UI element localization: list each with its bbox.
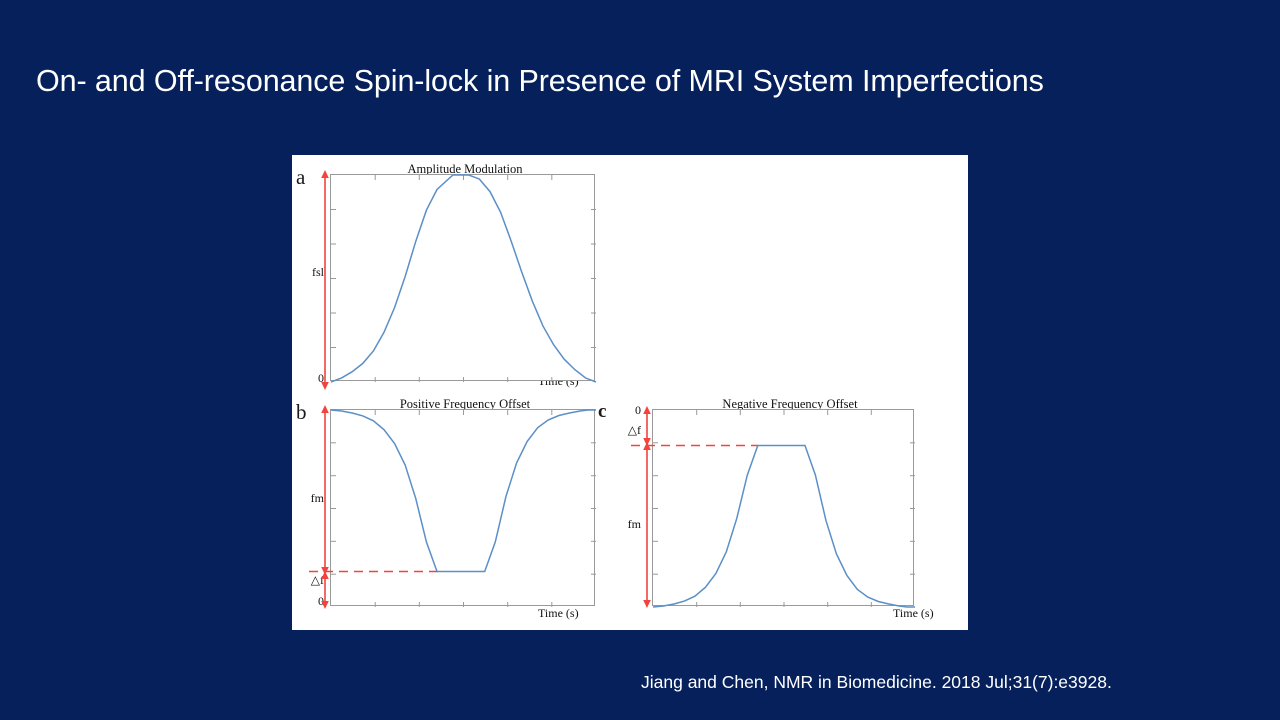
panel-b-ticks	[331, 410, 596, 607]
panel-c-ytick-zero: 0	[615, 403, 641, 418]
panel-c-ytick-fm: fm	[613, 517, 641, 532]
panel-b-deltaf-arrow	[318, 571, 332, 611]
panel-b-plot-svg	[331, 410, 596, 607]
panel-c-ytick-deltaf: △f	[609, 423, 641, 438]
panel-letter-c: c	[598, 402, 606, 421]
citation-text: Jiang and Chen, NMR in Biomedicine. 2018…	[641, 672, 1112, 693]
panel-a-ticks	[331, 175, 596, 382]
panel-letter-b: b	[296, 402, 307, 423]
panel-b-plot-area	[330, 409, 595, 606]
chart-panel-b: b Positive Frequency Offset fm △f 0 Time…	[292, 395, 612, 630]
panel-c-xlabel: Time (s)	[893, 606, 934, 621]
chart-panel-c: c Negative Frequency Offset 0 △f fm Time…	[597, 395, 968, 630]
panel-c-curve	[653, 446, 915, 608]
panel-a-curve	[331, 175, 596, 382]
panel-b-xlabel: Time (s)	[538, 606, 579, 621]
panel-b-fm-arrow	[318, 403, 332, 577]
panel-a-plot-area	[330, 174, 595, 381]
panel-a-plot-svg	[331, 175, 596, 382]
chart-panel-a: a Amplitude Modulation fsl 0 Time (s)	[292, 155, 612, 395]
slide-canvas: On- and Off-resonance Spin-lock in Prese…	[0, 0, 1280, 720]
panel-letter-a: a	[296, 167, 305, 188]
figure-image: a Amplitude Modulation fsl 0 Time (s)	[292, 155, 968, 630]
page-title: On- and Off-resonance Spin-lock in Prese…	[36, 64, 1216, 99]
panel-c-plot-area	[652, 409, 914, 606]
panel-a-fsl-arrow	[318, 168, 332, 390]
panel-c-fm-arrow	[640, 442, 654, 610]
panel-c-plot-svg	[653, 410, 915, 607]
panel-c-ticks	[653, 410, 915, 607]
panel-b-curve	[331, 410, 596, 572]
